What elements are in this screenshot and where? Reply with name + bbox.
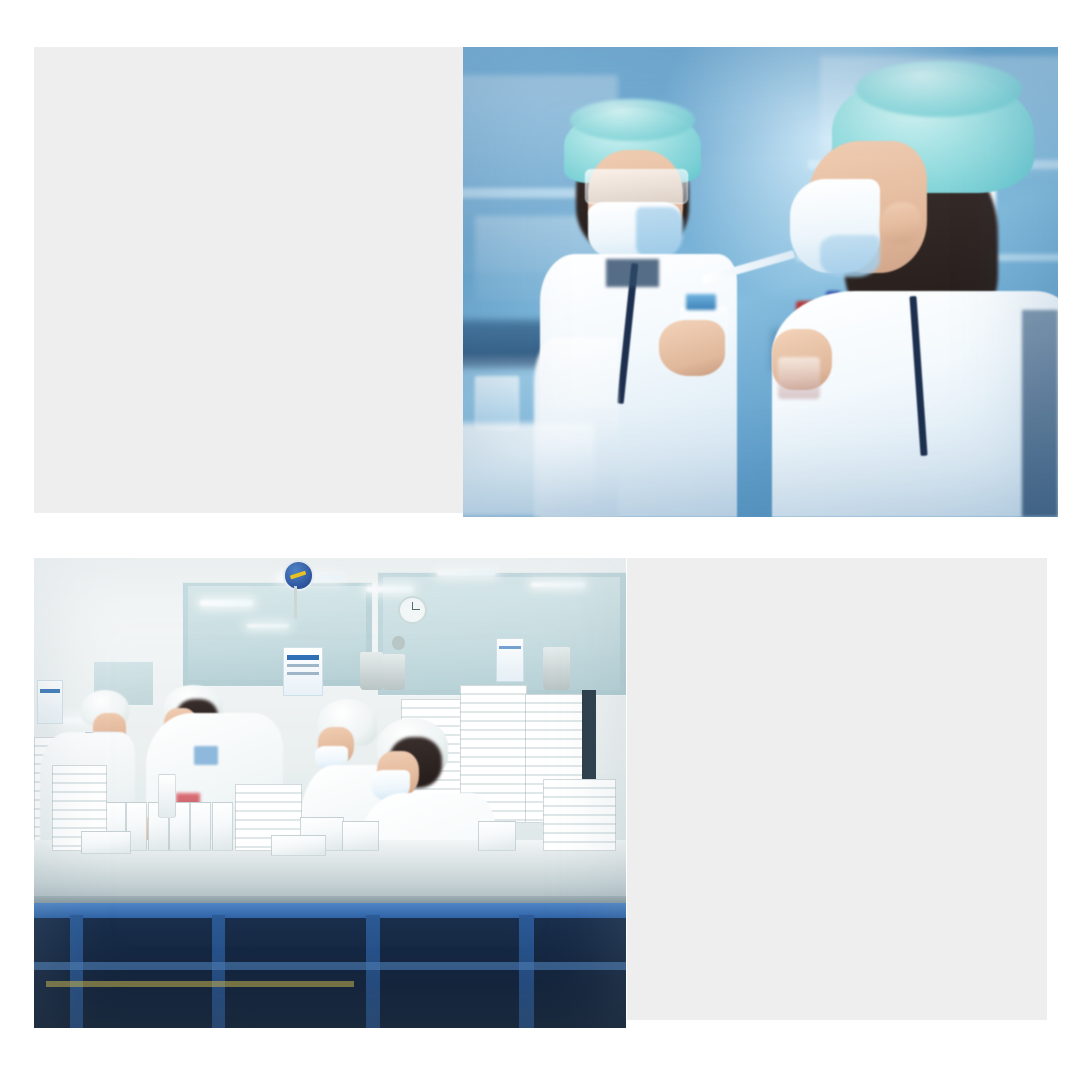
wall-poster-center bbox=[283, 647, 323, 696]
lab-bench-foreground bbox=[463, 423, 594, 517]
warehouse-packing-photo bbox=[34, 558, 626, 1028]
bottom-section: a warehouse distribution area a warehous… bbox=[34, 558, 1047, 1028]
white-bottle-on-table bbox=[158, 774, 175, 818]
ceiling-light-4 bbox=[437, 570, 496, 576]
beaker-cap bbox=[686, 294, 716, 310]
lab-quality-inspection-photo bbox=[463, 47, 1058, 517]
wall-clock bbox=[398, 596, 427, 624]
floor-marking-tape bbox=[46, 981, 354, 987]
wall-poster-left bbox=[37, 680, 63, 724]
worker-a-mask-shadow bbox=[636, 207, 684, 259]
ceiling-light-1 bbox=[200, 600, 253, 606]
top-caption-panel bbox=[34, 47, 463, 513]
carton-upright-5 bbox=[190, 802, 211, 851]
poster-left-bar bbox=[40, 689, 60, 693]
lab-equipment-stand-right bbox=[1022, 310, 1058, 517]
worker-a-hand-holding-beaker bbox=[659, 320, 724, 376]
steel-container-1 bbox=[360, 652, 384, 690]
clock-hand-minute bbox=[412, 609, 420, 610]
poster-bar-3 bbox=[287, 672, 319, 675]
steel-container-2 bbox=[383, 654, 404, 689]
bottom-caption-panel bbox=[627, 558, 1047, 1020]
worker-a-hairnet-crown bbox=[570, 99, 695, 141]
blue-circular-sign bbox=[283, 560, 314, 590]
carton-flat-3 bbox=[478, 821, 516, 851]
table-blue-frame-rail bbox=[34, 903, 626, 917]
carton-upright-6 bbox=[212, 802, 233, 851]
poster-right-bar bbox=[499, 646, 521, 650]
table-leg-3 bbox=[366, 915, 380, 1028]
table-leg-4 bbox=[519, 915, 533, 1028]
carton-flat-4 bbox=[271, 835, 326, 856]
poster-bar-2 bbox=[287, 664, 319, 667]
top-section: Having a strong R&D and quality inspecti… bbox=[34, 47, 1058, 517]
table-cross-brace bbox=[34, 962, 626, 970]
ceiling-light-6 bbox=[247, 624, 288, 629]
poster-bar-1 bbox=[287, 655, 319, 660]
carton-stack-front-right bbox=[543, 779, 616, 852]
wall-poster-right bbox=[496, 638, 524, 682]
worker-2-badge bbox=[194, 746, 218, 765]
table-leg-2 bbox=[212, 915, 225, 1028]
steel-container-3 bbox=[543, 647, 570, 689]
worker-a-collar bbox=[606, 259, 660, 287]
lab-flask-foreground bbox=[475, 376, 519, 430]
worker-b-held-item bbox=[778, 357, 820, 399]
table-leg-1 bbox=[70, 915, 83, 1028]
ceiling-light-3 bbox=[366, 586, 413, 592]
worker-a-safety-goggles bbox=[585, 169, 688, 204]
sign-post bbox=[294, 586, 297, 619]
sign-glyph bbox=[290, 571, 307, 580]
steel-lid bbox=[392, 636, 405, 650]
carton-flat-2 bbox=[342, 821, 380, 851]
carton-flat-5 bbox=[81, 831, 130, 854]
ceiling-light-5 bbox=[531, 582, 584, 588]
